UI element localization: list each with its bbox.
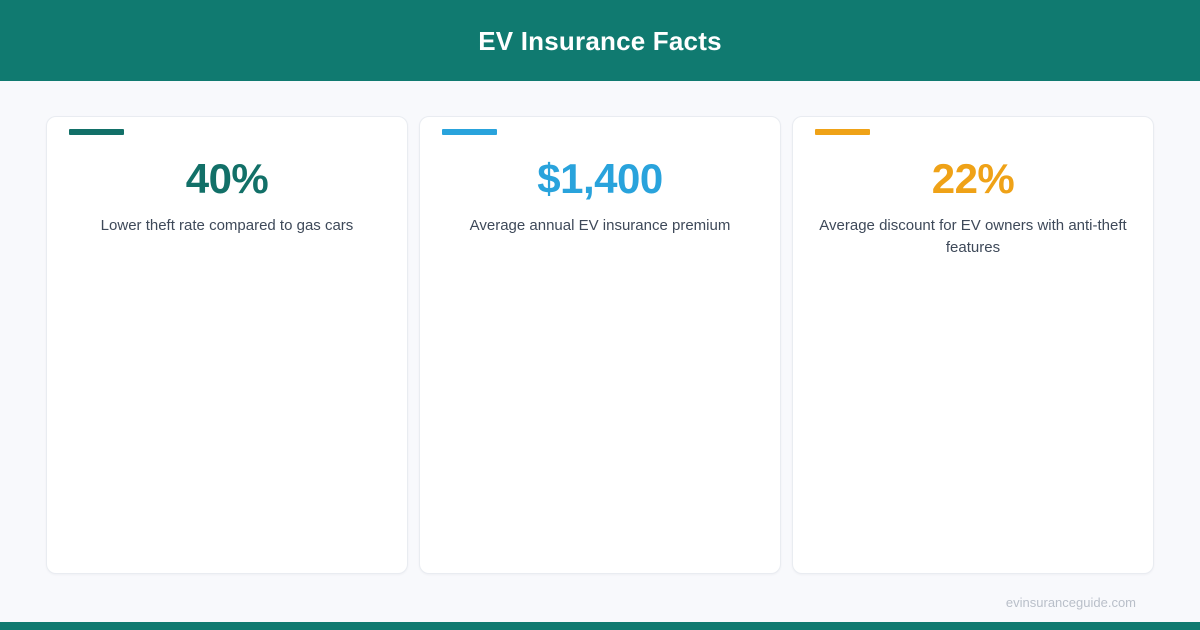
page-title: EV Insurance Facts [478, 28, 721, 54]
stat-value: 22% [815, 157, 1131, 201]
infographic-root: EV Insurance Facts 40% Lower theft rate … [0, 0, 1200, 630]
stat-label: Lower theft rate compared to gas cars [69, 215, 385, 237]
stat-card-anti-theft-discount: 22% Average discount for EV owners with … [792, 116, 1154, 574]
stat-label: Average discount for EV owners with anti… [815, 215, 1131, 259]
accent-bar [442, 129, 497, 135]
header-bar: EV Insurance Facts [0, 0, 1200, 81]
stat-card-theft-rate: 40% Lower theft rate compared to gas car… [46, 116, 408, 574]
stat-value: $1,400 [442, 157, 758, 201]
accent-bar [69, 129, 124, 135]
stat-label: Average annual EV insurance premium [442, 215, 758, 237]
stat-card-row: 40% Lower theft rate compared to gas car… [46, 116, 1154, 574]
main-content: 40% Lower theft rate compared to gas car… [0, 81, 1200, 581]
stat-value: 40% [69, 157, 385, 201]
bottom-accent-bar [0, 622, 1200, 630]
accent-bar [815, 129, 870, 135]
stat-card-annual-premium: $1,400 Average annual EV insurance premi… [419, 116, 781, 574]
source-attribution: evinsuranceguide.com [1006, 596, 1136, 609]
